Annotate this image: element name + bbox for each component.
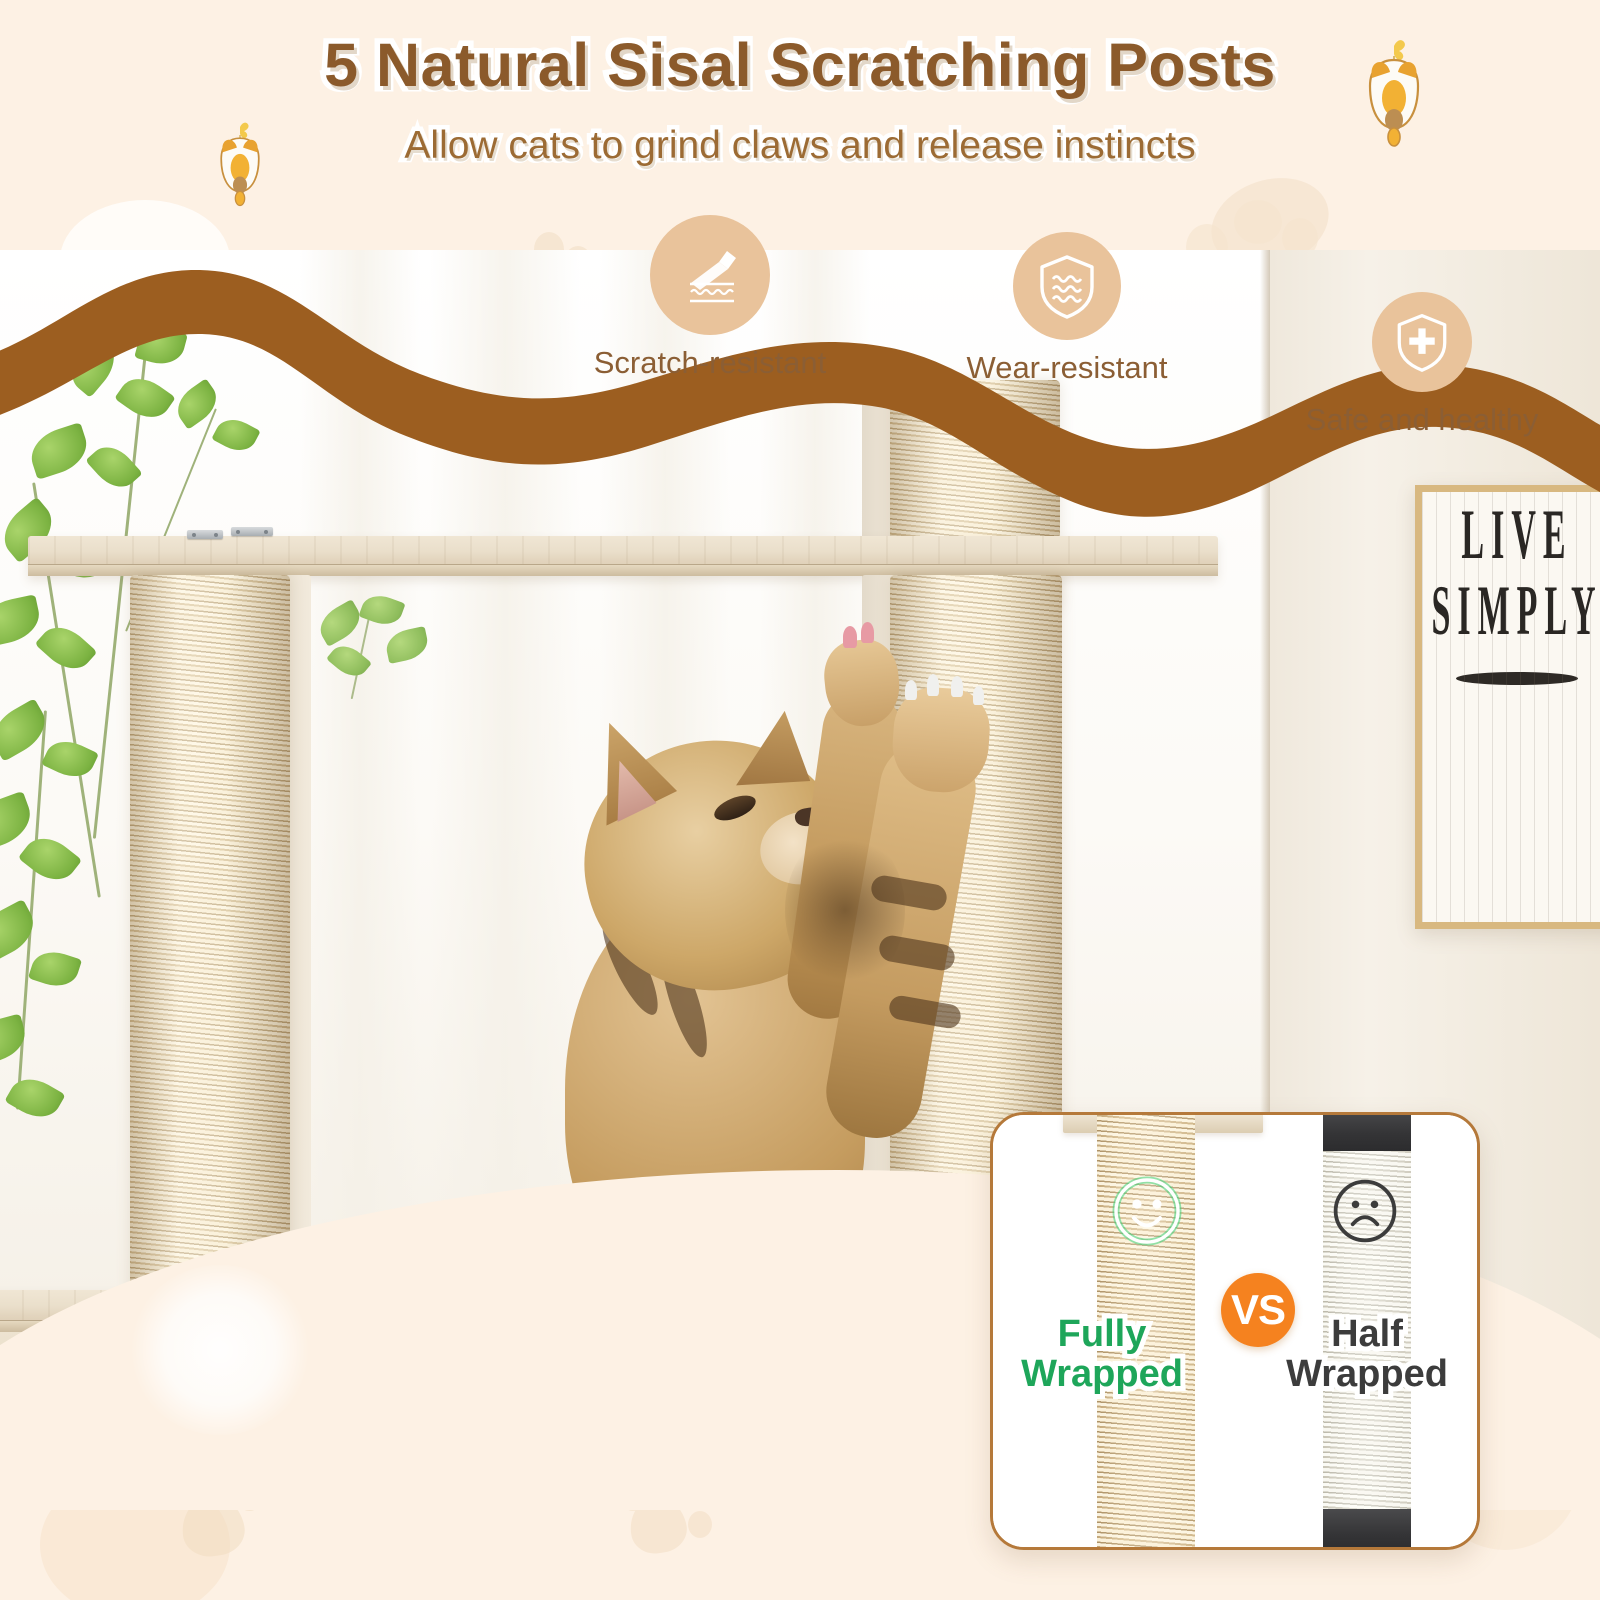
feature-scratch-resistant[interactable]: Scratch-resistant bbox=[563, 215, 857, 381]
feature-label: Scratch-resistant bbox=[563, 345, 857, 381]
cat-claw bbox=[861, 622, 874, 643]
feature-label: Safe and healthy bbox=[1272, 402, 1572, 438]
framed-poster: LIVE SIMPLY bbox=[1415, 485, 1600, 929]
shelf-top bbox=[28, 536, 1218, 576]
shield-plus-icon bbox=[1372, 292, 1472, 392]
poster-line-1: LIVE bbox=[1461, 497, 1572, 577]
cat-claw bbox=[843, 626, 857, 648]
cat-claw bbox=[905, 680, 917, 700]
smiley-face-icon bbox=[1109, 1173, 1185, 1249]
cmp-post-cap-top bbox=[1323, 1115, 1411, 1151]
blade-scratch-icon bbox=[650, 215, 770, 335]
cmp-label-half-wrapped: Half Wrapped bbox=[1251, 1315, 1477, 1394]
header: 5 Natural Sisal Scratching Posts Allow c… bbox=[0, 0, 1600, 250]
cat-claw bbox=[973, 686, 984, 705]
feature-label: Wear-resistant bbox=[920, 350, 1214, 386]
cmp-post-cap-bottom bbox=[1323, 1509, 1411, 1547]
metal-hinge bbox=[187, 530, 223, 539]
product-infographic: LIVE SIMPLY bbox=[0, 0, 1600, 1600]
cat-mascot-icon bbox=[1348, 34, 1440, 152]
feature-wear-resistant[interactable]: Wear-resistant bbox=[920, 232, 1214, 386]
cat-claw bbox=[927, 674, 939, 696]
cat-mascot-icon bbox=[204, 116, 276, 212]
feature-safe-healthy[interactable]: Safe and healthy bbox=[1272, 292, 1572, 438]
cmp-label-fully-wrapped: Fully Wrapped bbox=[993, 1315, 1217, 1394]
light-glow bbox=[130, 1265, 310, 1435]
cat-claw bbox=[951, 676, 963, 697]
sad-face-icon bbox=[1329, 1175, 1401, 1247]
metal-hinge bbox=[231, 527, 273, 536]
shield-waves-icon bbox=[1013, 232, 1121, 340]
cat-chest-shadow bbox=[785, 830, 905, 990]
poster-line-2: SIMPLY bbox=[1431, 573, 1600, 653]
comparison-card: VS Fully Wrapped Half Wrapped bbox=[990, 1112, 1480, 1550]
